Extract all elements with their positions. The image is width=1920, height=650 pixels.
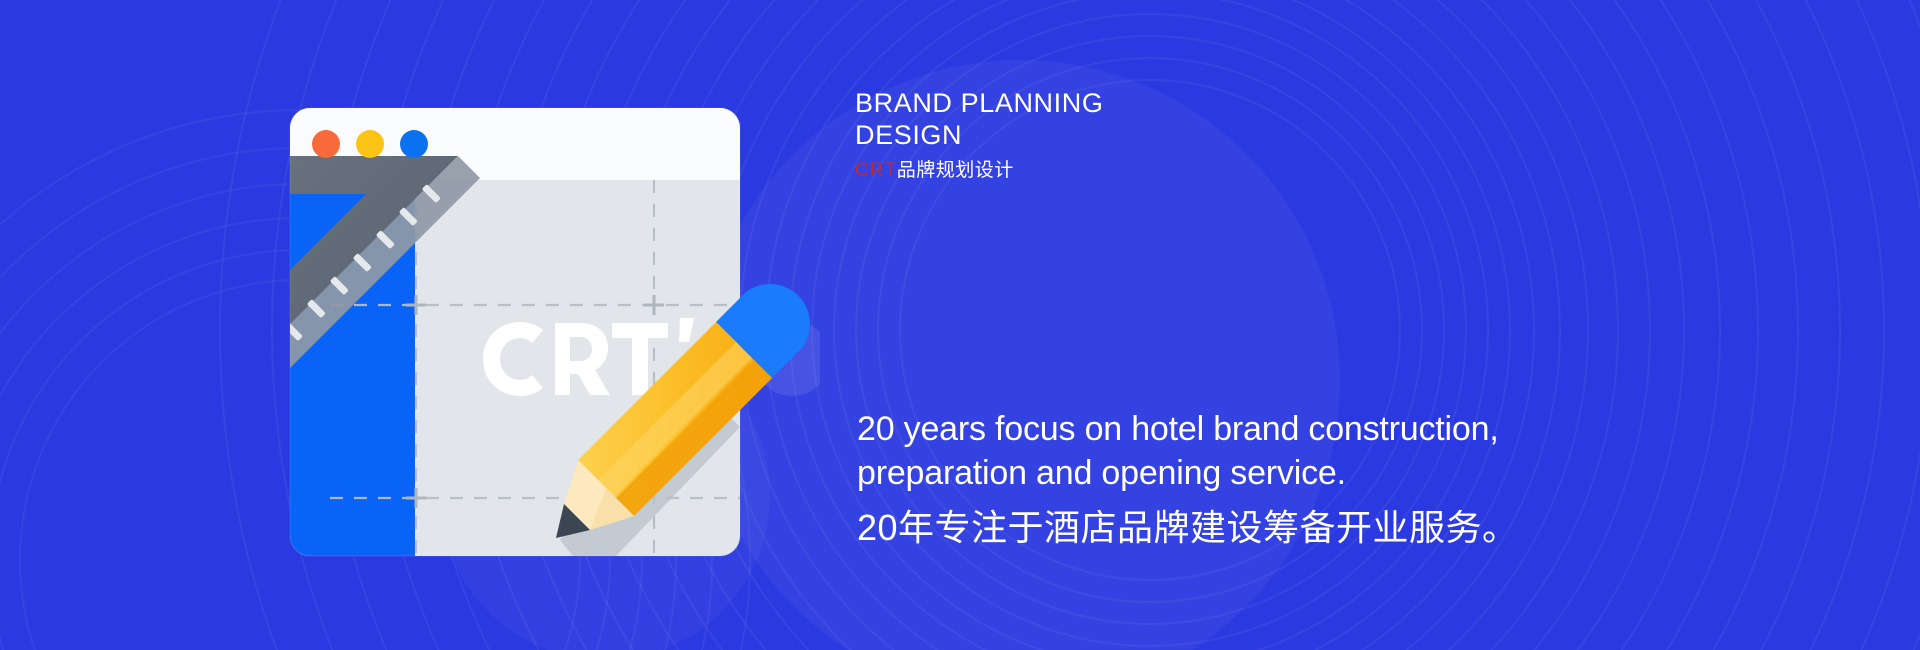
crt-brand-label: CRT	[855, 160, 897, 181]
maximize-dot	[400, 130, 428, 158]
sub-heading-text: 品牌规划设计	[897, 160, 1014, 181]
headline-block: BRAND PLANNING DESIGN CRT品牌规划设计	[855, 88, 1615, 183]
lede-block: 20 years focus on hotel brand constructi…	[857, 408, 1797, 550]
lede-chinese: 20年专注于酒店品牌建设筹备开业服务。	[857, 505, 1797, 550]
close-dot	[312, 130, 340, 158]
kicker-heading: BRAND PLANNING DESIGN	[855, 88, 1615, 151]
window-traffic-light-dots	[312, 130, 428, 158]
lede-english: 20 years focus on hotel brand constructi…	[857, 408, 1797, 495]
brand-banner: BRAND PLANNING DESIGN CRT品牌规划设计 20 years…	[0, 0, 1920, 650]
design-illustration	[180, 60, 820, 580]
minimize-dot	[356, 130, 384, 158]
sub-heading: CRT品牌规划设计	[855, 160, 1615, 183]
